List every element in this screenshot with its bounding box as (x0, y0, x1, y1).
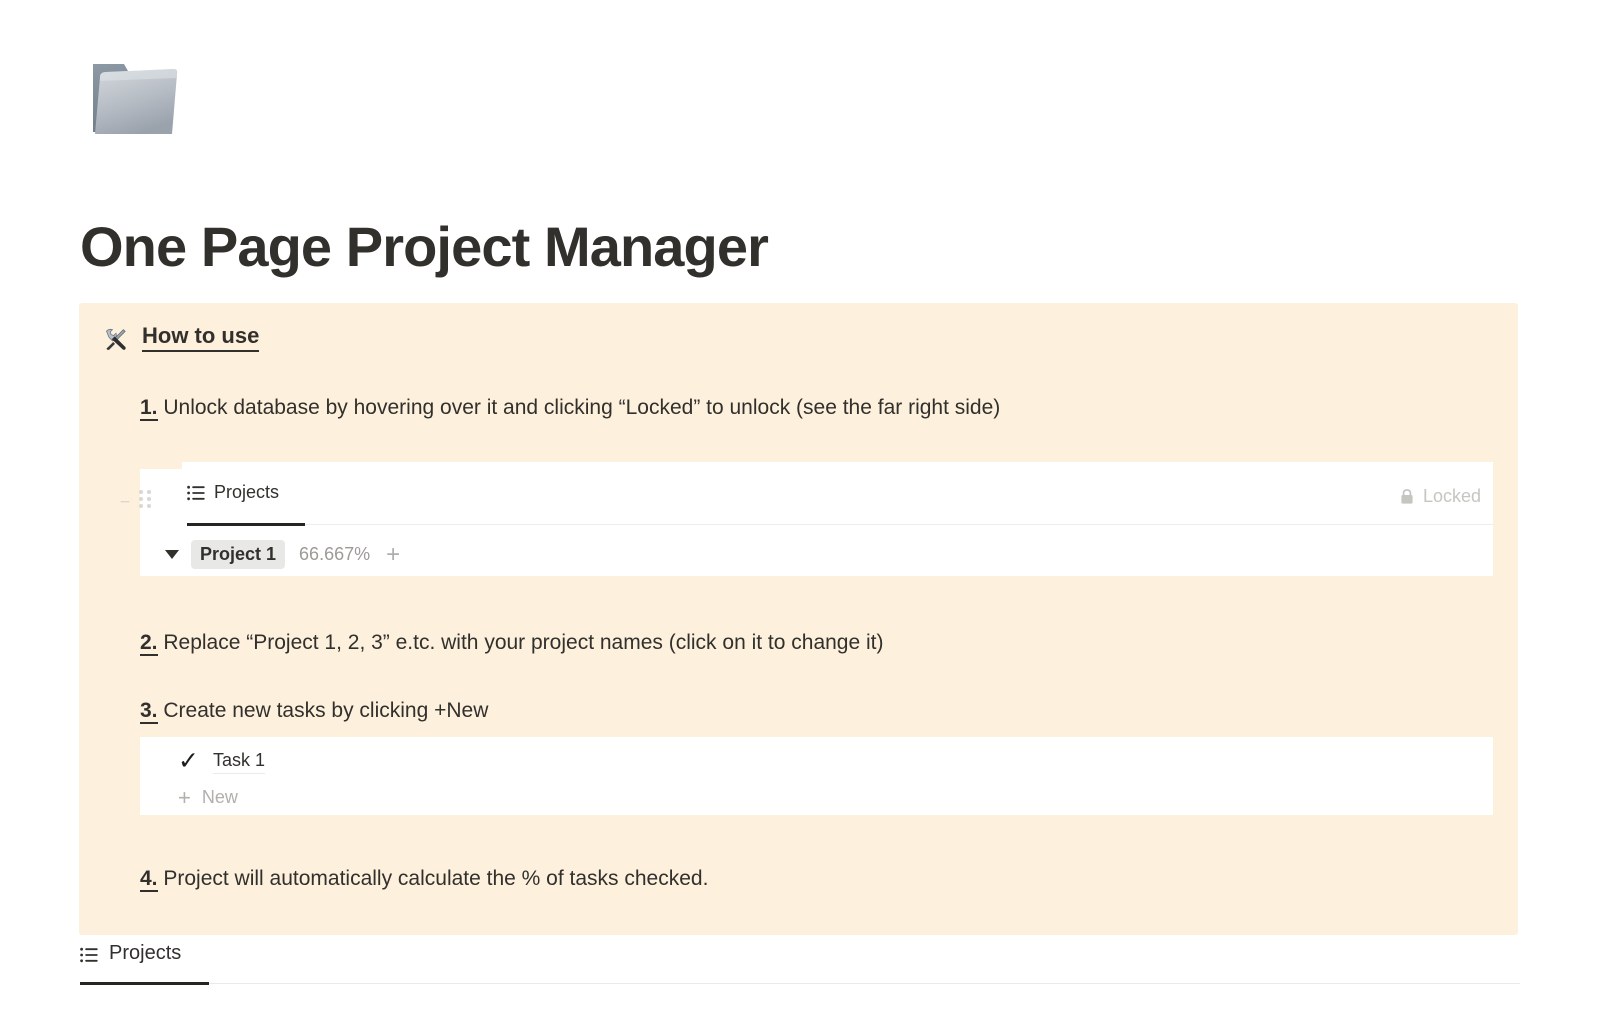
hammer-and-wrench-icon (102, 326, 128, 352)
db-tab-label: Projects (214, 482, 279, 503)
callout-heading-text: How to use (142, 323, 259, 352)
db-tab-active-underline (187, 523, 305, 526)
step-3-text: Create new tasks by clicking +New (158, 699, 489, 722)
new-task-label: New (202, 787, 238, 808)
db-tab-projects[interactable]: Projects (187, 482, 279, 515)
minus-icon[interactable] (120, 494, 131, 505)
step-1-number: 1. (140, 396, 158, 421)
task-name[interactable]: Task 1 (213, 749, 265, 774)
how-to-use-callout: How to use 1. Unlock database by hoverin… (79, 303, 1518, 935)
locked-label: Locked (1423, 486, 1481, 507)
project-percent: 66.667% (299, 544, 370, 565)
page-title: One Page Project Manager (80, 214, 768, 280)
add-row-button[interactable]: + (386, 546, 400, 564)
padlock-icon (1400, 488, 1414, 505)
checkmark-icon[interactable]: ✓ (178, 749, 199, 774)
plus-icon: + (178, 789, 191, 807)
bottom-tab-label: Projects (109, 942, 181, 965)
bottom-tab-bar: Projects (80, 942, 1520, 990)
locked-status[interactable]: Locked (1400, 486, 1481, 507)
db-tab-row: Projects (187, 482, 1493, 524)
embedded-task-block[interactable]: ✓ Task 1 + New (140, 737, 1493, 815)
caret-down-icon[interactable] (165, 550, 179, 559)
bottom-tab-projects[interactable]: Projects (80, 942, 181, 965)
step-4: 4. Project will automatically calculate … (140, 864, 708, 894)
step-1: 1. Unlock database by hovering over it a… (140, 393, 1000, 423)
step-2-number: 2. (140, 631, 158, 656)
step-4-number: 4. (140, 867, 158, 892)
step-3: 3. Create new tasks by clicking +New (140, 696, 488, 726)
page-root: One Page Project Manager How to use 1. U… (0, 0, 1600, 1024)
callout-header: How to use (102, 323, 259, 352)
task-row[interactable]: ✓ Task 1 (178, 749, 265, 774)
bottom-tab-active-underline (80, 982, 209, 985)
step-2-text: Replace “Project 1, 2, 3” e.tc. with you… (158, 631, 884, 654)
db-tab-divider (305, 524, 1493, 525)
project-tag[interactable]: Project 1 (191, 540, 285, 569)
list-view-icon (187, 485, 205, 501)
step-2: 2. Replace “Project 1, 2, 3” e.tc. with … (140, 628, 884, 658)
folder-icon[interactable] (84, 44, 188, 148)
embedded-database-block[interactable]: Projects Locked Project 1 66.667% + (140, 462, 1493, 576)
new-task-button[interactable]: + New (178, 787, 238, 808)
step-1-text: Unlock database by hovering over it and … (158, 396, 1001, 419)
db-block-notch (140, 462, 182, 469)
db-group-row[interactable]: Project 1 66.667% + (165, 540, 400, 569)
list-view-icon (80, 946, 98, 962)
step-4-text: Project will automatically calculate the… (158, 867, 709, 890)
db-block-gutter (120, 490, 151, 508)
bottom-tab-divider (209, 983, 1520, 984)
drag-handle-icon[interactable] (139, 490, 151, 508)
step-3-number: 3. (140, 699, 158, 724)
